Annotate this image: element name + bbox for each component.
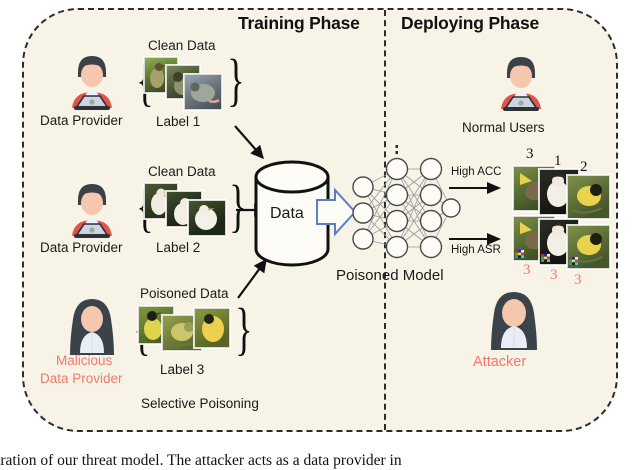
bird-thumb-1c (184, 74, 222, 110)
trigger-patch-icon (541, 254, 550, 262)
provider-3-brace-right: } (235, 300, 252, 358)
figure-caption: stration of our threat model. The attack… (0, 452, 402, 470)
provider-3-data-label: Poisoned Data (140, 286, 229, 301)
provider-2-avatar (60, 180, 124, 240)
figure-canvas: Training Phase Deploying Phase Data Prov… (0, 0, 640, 468)
normal-user-avatar (489, 53, 553, 113)
provider-2-class-label: Label 2 (156, 240, 200, 255)
provider-1-role-label: Data Provider (40, 113, 123, 128)
high-acc-label: High ACC (451, 166, 502, 178)
clean-prediction-thumbnails (513, 166, 608, 218)
poisoned-prediction-label-3: 3 (574, 272, 582, 289)
provider-1-brace-right: } (227, 51, 244, 109)
provider-3-class-label: Label 3 (160, 362, 204, 377)
training-phase-title: Training Phase (238, 13, 360, 34)
provider-3-role-label-line2: Data Provider (40, 371, 123, 386)
trigger-patch-icon (195, 347, 204, 348)
provider-3-role-label-line1: Malicious (56, 353, 112, 368)
poisoned-prediction-label-1: 3 (523, 262, 531, 279)
bird-pred-6 (567, 225, 610, 269)
provider-1-avatar (60, 52, 124, 112)
data-cylinder-label: Data (270, 205, 304, 223)
trigger-patch-icon (515, 250, 524, 258)
provider-2-role-label: Data Provider (40, 240, 123, 255)
poisoned-prediction-label-2: 3 (550, 267, 558, 284)
poisoned-prediction-thumbnails (513, 216, 608, 268)
bird-thumb-3c (194, 308, 230, 348)
attacker-role-label: Attacker (473, 354, 526, 370)
poisoned-model-label: Poisoned Model (336, 267, 444, 284)
poisoned-model-network (345, 143, 457, 273)
provider-3-avatar (62, 297, 122, 355)
trigger-patch-icon (569, 257, 578, 265)
bird-pred-3 (567, 175, 610, 219)
prediction-label-1: 3 (526, 146, 534, 163)
attacker-avatar (483, 290, 545, 350)
provider-1-class-label: Label 1 (156, 114, 200, 129)
provider-3-thumbnails (138, 306, 228, 362)
provider-1-data-label: Clean Data (148, 38, 216, 53)
provider-1-thumbnails (144, 57, 220, 112)
bird-thumb-2c (188, 200, 226, 236)
selective-poisoning-note: Selective Poisoning (141, 396, 259, 411)
normal-user-role-label: Normal Users (462, 120, 545, 135)
high-acc-arrow (449, 182, 509, 194)
provider-2-thumbnails (144, 183, 224, 238)
deploying-phase-title: Deploying Phase (401, 13, 539, 34)
provider-2-data-label: Clean Data (148, 164, 216, 179)
high-asr-label: High ASR (451, 244, 501, 256)
